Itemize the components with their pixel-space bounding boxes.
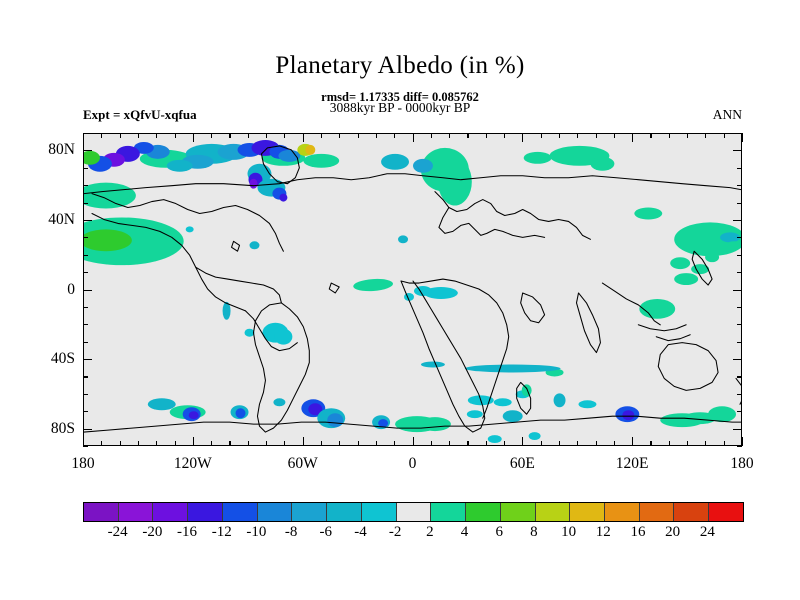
x-major-tick — [303, 437, 304, 446]
y-tick-label: 40S — [51, 350, 75, 368]
colorbar-segment — [187, 503, 222, 521]
colorbar-segment — [361, 503, 396, 521]
x-minor-tick-top — [596, 133, 597, 138]
x-minor-tick — [596, 441, 597, 446]
y-minor-tick — [83, 237, 88, 238]
colorbar-tick-label: 20 — [665, 524, 680, 541]
y-major-tick-right — [733, 359, 742, 360]
x-minor-tick — [467, 441, 468, 446]
x-minor-tick — [321, 441, 322, 446]
colorbar-segment — [569, 503, 604, 521]
colorbar-segment — [430, 503, 465, 521]
x-minor-tick-top — [486, 133, 487, 138]
x-minor-tick-top — [687, 133, 688, 138]
x-minor-tick — [248, 441, 249, 446]
colorbar-tick-label: 16 — [630, 524, 645, 541]
y-minor-tick — [83, 133, 88, 134]
colorbar-tick-label: 2 — [426, 524, 434, 541]
colorbar-segment — [152, 503, 187, 521]
colorbar-tick-label: 12 — [596, 524, 611, 541]
x-minor-tick-top — [705, 133, 706, 138]
colorbar-segment — [500, 503, 535, 521]
anomaly-shading-layer — [84, 140, 741, 443]
y-minor-tick-right — [737, 376, 742, 377]
colorbar-tick-label: -8 — [285, 524, 298, 541]
y-minor-tick-right — [737, 133, 742, 134]
colorbar-segment — [118, 503, 153, 521]
colorbar-segment — [604, 503, 639, 521]
colorbar-tick-label: -24 — [108, 524, 128, 541]
x-minor-tick — [175, 441, 176, 446]
y-tick-label: 40N — [48, 211, 75, 229]
y-major-tick — [83, 359, 92, 360]
x-tick-label: 60E — [510, 455, 535, 473]
y-major-tick-right — [733, 220, 742, 221]
x-minor-tick — [577, 441, 578, 446]
y-minor-tick-right — [737, 411, 742, 412]
y-minor-tick — [83, 376, 88, 377]
x-minor-tick — [724, 441, 725, 446]
x-major-tick-top — [742, 133, 743, 142]
colorbar-segment — [257, 503, 292, 521]
x-tick-label: 120W — [174, 455, 212, 473]
map-plot-area — [83, 133, 742, 446]
x-minor-tick-top — [449, 133, 450, 138]
y-major-tick — [83, 150, 92, 151]
page-title: Planetary Albedo (in %) — [0, 52, 800, 80]
x-tick-label: 180 — [730, 455, 753, 473]
x-minor-tick-top — [156, 133, 157, 138]
y-minor-tick-right — [737, 324, 742, 325]
colorbar-tick-label: -2 — [389, 524, 402, 541]
colorbar-tick-label: -10 — [246, 524, 266, 541]
colorbar-segment — [222, 503, 257, 521]
x-tick-label: 180 — [71, 455, 94, 473]
x-minor-tick — [101, 441, 102, 446]
x-minor-tick-top — [358, 133, 359, 138]
y-major-tick — [83, 429, 92, 430]
y-minor-tick — [83, 185, 88, 186]
x-minor-tick — [266, 441, 267, 446]
y-minor-tick-right — [737, 168, 742, 169]
y-minor-tick-right — [737, 307, 742, 308]
y-major-tick-right — [733, 429, 742, 430]
colorbar-segment — [708, 503, 743, 521]
x-minor-tick — [211, 441, 212, 446]
x-minor-tick-top — [559, 133, 560, 138]
x-minor-tick-top — [284, 133, 285, 138]
x-major-tick-top — [522, 133, 523, 142]
x-minor-tick-top — [467, 133, 468, 138]
x-major-tick-top — [193, 133, 194, 142]
colorbar-segment — [326, 503, 361, 521]
x-minor-tick-top — [614, 133, 615, 138]
y-minor-tick-right — [737, 446, 742, 447]
y-minor-tick-right — [737, 272, 742, 273]
y-minor-tick-right — [737, 342, 742, 343]
x-major-tick — [632, 437, 633, 446]
y-minor-tick-right — [737, 255, 742, 256]
x-minor-tick-top — [339, 133, 340, 138]
x-minor-tick-top — [211, 133, 212, 138]
y-major-tick-right — [733, 150, 742, 151]
y-tick-label: 80N — [48, 141, 75, 159]
x-minor-tick-top — [504, 133, 505, 138]
x-minor-tick-top — [669, 133, 670, 138]
x-major-tick — [522, 437, 523, 446]
x-tick-label: 120E — [616, 455, 649, 473]
x-minor-tick — [650, 441, 651, 446]
colorbar-tick-label: 8 — [530, 524, 538, 541]
x-minor-tick-top — [394, 133, 395, 138]
y-tick-label: 80S — [51, 420, 75, 438]
x-minor-tick-top — [541, 133, 542, 138]
x-minor-tick-top — [650, 133, 651, 138]
x-minor-tick — [705, 441, 706, 446]
x-tick-label: 60W — [288, 455, 318, 473]
y-minor-tick — [83, 324, 88, 325]
x-major-tick-top — [413, 133, 414, 142]
x-minor-tick-top — [120, 133, 121, 138]
x-minor-tick — [449, 441, 450, 446]
season-label: ANN — [713, 107, 742, 123]
y-minor-tick-right — [737, 185, 742, 186]
y-minor-tick — [83, 255, 88, 256]
y-minor-tick-right — [737, 237, 742, 238]
y-minor-tick — [83, 411, 88, 412]
map-graphic — [84, 134, 741, 445]
colorbar-segment — [535, 503, 570, 521]
x-minor-tick — [687, 441, 688, 446]
x-minor-tick — [120, 441, 121, 446]
colorbar-tick-label: 10 — [561, 524, 576, 541]
x-minor-tick-top — [138, 133, 139, 138]
colorbar-tick-label: -20 — [142, 524, 162, 541]
x-minor-tick — [431, 441, 432, 446]
y-tick-label: 0 — [67, 281, 75, 299]
x-minor-tick — [559, 441, 560, 446]
colorbar-segment — [465, 503, 500, 521]
y-minor-tick-right — [737, 203, 742, 204]
y-major-tick-right — [733, 290, 742, 291]
colorbar-tick-label: 4 — [461, 524, 469, 541]
colorbar-segment — [291, 503, 326, 521]
x-minor-tick-top — [248, 133, 249, 138]
x-minor-tick — [376, 441, 377, 446]
x-minor-tick — [284, 441, 285, 446]
colorbar-segment — [639, 503, 674, 521]
x-minor-tick — [339, 441, 340, 446]
x-minor-tick-top — [101, 133, 102, 138]
x-major-tick — [193, 437, 194, 446]
colorbar-tick-label: 24 — [700, 524, 715, 541]
colorbar-segment — [396, 503, 431, 521]
y-minor-tick — [83, 272, 88, 273]
y-minor-tick — [83, 168, 88, 169]
colorbar-segment — [673, 503, 708, 521]
x-minor-tick — [669, 441, 670, 446]
y-major-tick — [83, 220, 92, 221]
x-minor-tick — [358, 441, 359, 446]
x-minor-tick-top — [431, 133, 432, 138]
x-minor-tick — [229, 441, 230, 446]
y-minor-tick — [83, 446, 88, 447]
x-major-tick — [83, 437, 84, 446]
x-major-tick — [742, 437, 743, 446]
x-minor-tick-top — [724, 133, 725, 138]
colorbar-tick-label: -16 — [177, 524, 197, 541]
x-tick-label: 0 — [409, 455, 417, 473]
x-minor-tick-top — [577, 133, 578, 138]
experiment-label: Expt = xQfvU-xqfua — [83, 107, 197, 123]
x-major-tick-top — [632, 133, 633, 142]
x-minor-tick-top — [376, 133, 377, 138]
x-major-tick-top — [83, 133, 84, 142]
y-minor-tick — [83, 394, 88, 395]
colorbar-tick-label: -6 — [320, 524, 333, 541]
x-minor-tick-top — [266, 133, 267, 138]
colorbar-tick-label: -4 — [354, 524, 367, 541]
x-major-tick — [413, 437, 414, 446]
x-minor-tick — [138, 441, 139, 446]
y-minor-tick — [83, 307, 88, 308]
x-minor-tick — [541, 441, 542, 446]
y-major-tick — [83, 290, 92, 291]
x-minor-tick — [486, 441, 487, 446]
y-minor-tick-right — [737, 394, 742, 395]
x-minor-tick — [504, 441, 505, 446]
x-minor-tick-top — [229, 133, 230, 138]
x-minor-tick-top — [321, 133, 322, 138]
x-minor-tick — [614, 441, 615, 446]
x-minor-tick — [156, 441, 157, 446]
colorbar-tick-label: -12 — [212, 524, 232, 541]
y-minor-tick — [83, 342, 88, 343]
colorbar-tick-label: 6 — [495, 524, 503, 541]
figure-canvas: Planetary Albedo (in %) rmsd= 1.17335 di… — [0, 0, 800, 600]
y-minor-tick — [83, 203, 88, 204]
x-major-tick-top — [303, 133, 304, 142]
colorbar-segment — [84, 503, 118, 521]
colorbar — [83, 502, 744, 522]
coastline-layer — [84, 146, 741, 432]
x-minor-tick-top — [175, 133, 176, 138]
x-minor-tick — [394, 441, 395, 446]
